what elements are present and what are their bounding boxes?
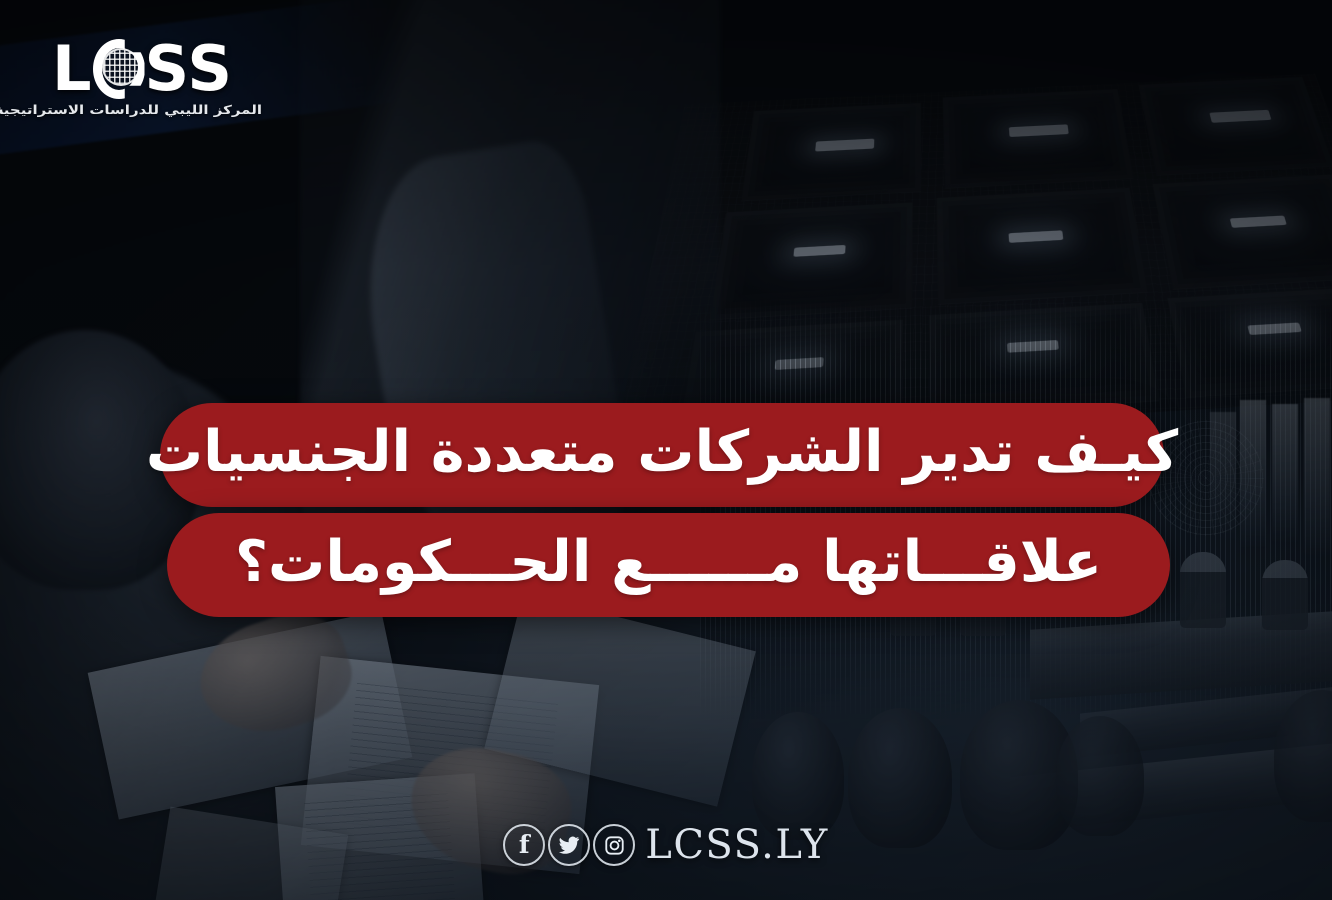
globe-emblem-icon bbox=[104, 50, 138, 84]
title-line2: علاقـــاتها مــــــع الحـــكومات؟ bbox=[235, 534, 1102, 597]
twitter-icon[interactable] bbox=[548, 824, 590, 866]
title-block: كيـف تدير الشركات متعددة الجنسيات علاقــ… bbox=[0, 403, 1332, 617]
lcss-wordmark: L SS bbox=[52, 38, 262, 100]
facebook-icon[interactable]: f bbox=[503, 824, 545, 866]
title-banner-line2: علاقـــاتها مــــــع الحـــكومات؟ bbox=[167, 513, 1170, 617]
footer-social-bar: f LCSS.LY bbox=[0, 824, 1332, 866]
facebook-glyph: f bbox=[519, 832, 530, 857]
title-banner-line1: كيـف تدير الشركات متعددة الجنسيات bbox=[160, 403, 1164, 507]
logo-letter-l: L bbox=[52, 38, 93, 100]
logo-subtitle: المركز الليبي للدراسات الاستراتيجية bbox=[52, 103, 262, 118]
logo-letter-c bbox=[93, 39, 145, 99]
logo-letters-ss: SS bbox=[145, 38, 234, 100]
social-media-card: L SS المركز الليبي للدراسات الاستراتيجية… bbox=[0, 0, 1332, 900]
title-line1: كيـف تدير الشركات متعددة الجنسيات bbox=[146, 424, 1178, 487]
website-handle[interactable]: LCSS.LY bbox=[645, 825, 828, 865]
lcss-logo[interactable]: L SS المركز الليبي للدراسات الاستراتيجية bbox=[52, 38, 262, 119]
instagram-icon[interactable] bbox=[593, 824, 635, 866]
